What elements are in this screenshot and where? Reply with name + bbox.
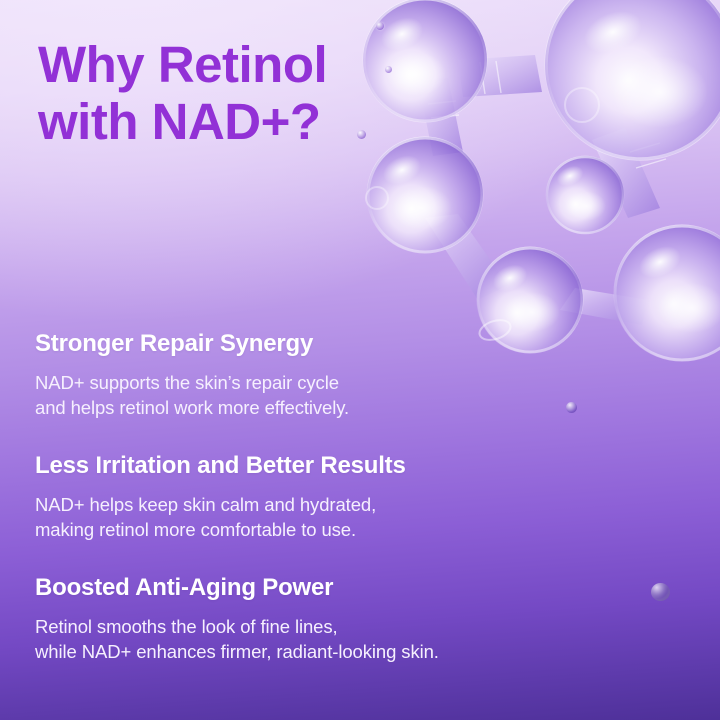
benefits-list: Stronger Repair Synergy NAD+ supports th… bbox=[35, 330, 675, 664]
droplet-1 bbox=[376, 22, 384, 30]
benefit-body-2-line-1: NAD+ helps keep skin calm and hydrated, bbox=[35, 492, 675, 517]
molecule-bonds bbox=[418, 55, 666, 325]
benefit-item-3: Boosted Anti-Aging Power Retinol smooths… bbox=[35, 574, 675, 664]
sphere-large-top-right bbox=[545, 0, 720, 160]
benefit-body-2-line-2: making retinol more comfortable to use. bbox=[35, 517, 675, 542]
page-title: Why Retinol with NAD+? bbox=[38, 36, 398, 150]
benefit-body-3: Retinol smooths the look of fine lines, … bbox=[35, 614, 675, 664]
benefit-body-2: NAD+ helps keep skin calm and hydrated, … bbox=[35, 492, 675, 542]
benefit-body-1: NAD+ supports the skin’s repair cycle an… bbox=[35, 370, 675, 420]
benefit-title-3: Boosted Anti-Aging Power bbox=[35, 574, 675, 603]
benefit-body-3-line-2: while NAD+ enhances firmer, radiant-look… bbox=[35, 639, 675, 664]
benefit-title-2: Less Irritation and Better Results bbox=[35, 452, 675, 481]
sphere-center-small bbox=[546, 156, 624, 234]
benefit-title-1: Stronger Repair Synergy bbox=[35, 330, 675, 359]
benefit-item-1: Stronger Repair Synergy NAD+ supports th… bbox=[35, 330, 675, 420]
benefit-item-2: Less Irritation and Better Results NAD+ … bbox=[35, 452, 675, 542]
molecule-spheres bbox=[363, 0, 720, 361]
benefit-body-1-line-1: NAD+ supports the skin’s repair cycle bbox=[35, 370, 675, 395]
page-title-line-1: Why Retinol bbox=[38, 36, 327, 93]
benefit-body-3-line-1: Retinol smooths the look of fine lines, bbox=[35, 614, 675, 639]
benefit-body-1-line-2: and helps retinol work more effectively. bbox=[35, 395, 675, 420]
sphere-left bbox=[366, 137, 483, 253]
page-title-line-2: with NAD+? bbox=[38, 93, 398, 150]
promo-poster: Why Retinol with NAD+? Stronger Repair S… bbox=[0, 0, 720, 720]
